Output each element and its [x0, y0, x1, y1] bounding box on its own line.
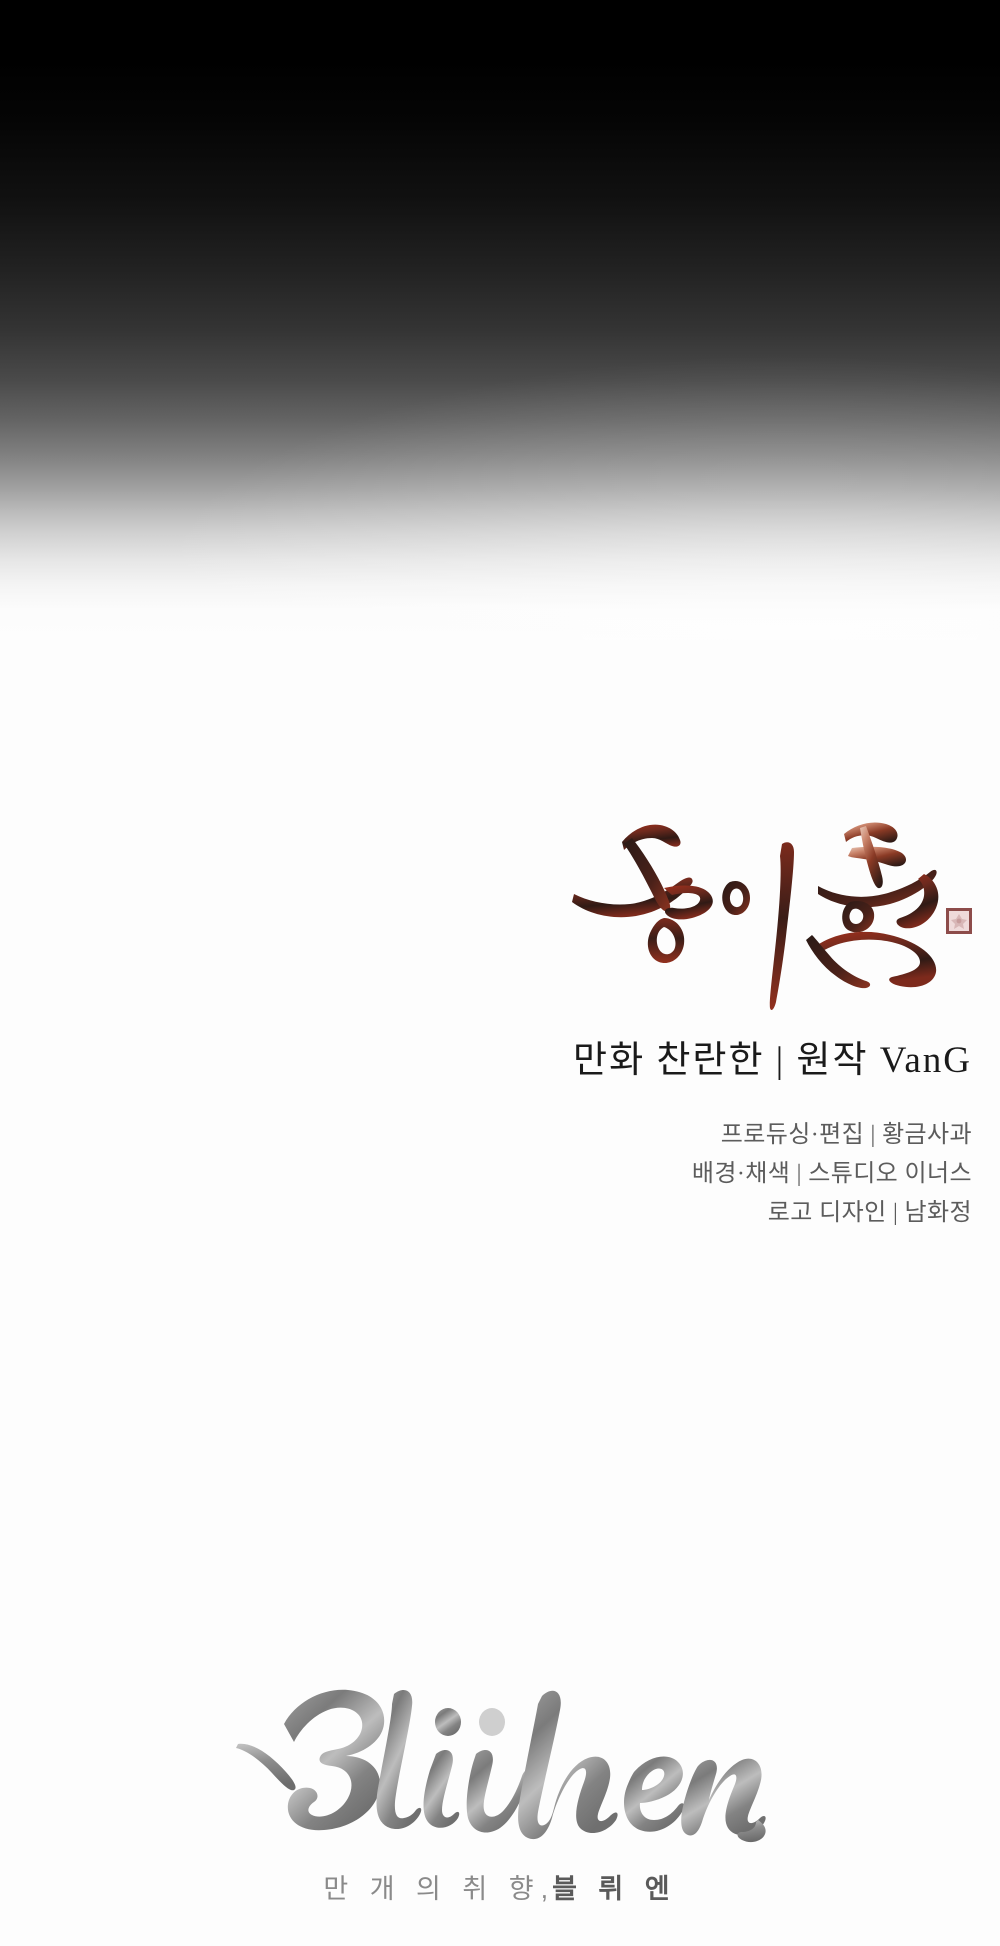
- bluehen-logo: [230, 1672, 770, 1857]
- credit-line-logo-design: 로고 디자인 | 남화정: [0, 1194, 972, 1233]
- credit-line-background: 배경·채색 | 스튜디오 이너스: [0, 1155, 972, 1194]
- webtoon-title-page: 종이꽃: [0, 0, 1000, 1946]
- credit-sub-block: 프로듀싱·편집 | 황금사과 배경·채색 | 스튜디오 이너스 로고 디자인 |…: [0, 1116, 972, 1233]
- page-title: 종이꽃: [0, 790, 1, 791]
- tagline-comma: ,: [541, 1874, 553, 1904]
- credit-line-producing: 프로듀싱·편집 | 황금사과: [0, 1116, 972, 1155]
- credits-block: 만화 찬란한 | 원작 VanG 프로듀싱·편집 | 황금사과 배경·채색 | …: [0, 1036, 972, 1233]
- calligraphy-title-artwork: [560, 790, 980, 1020]
- credit-main-line: 만화 찬란한 | 원작 VanG: [0, 1036, 972, 1086]
- brand-tagline: 만 개 의 취 향,블 뤼 엔: [0, 1867, 1000, 1906]
- top-gradient-backdrop: [0, 0, 1000, 640]
- tagline-brand: 블 뤼 엔: [552, 1874, 677, 1904]
- top-black-edge: [0, 0, 1000, 26]
- artist-seal-icon: [946, 908, 972, 934]
- brand-block: Blühen: [0, 1672, 1000, 1906]
- tagline-prefix: 만 개 의 취 향: [323, 1874, 540, 1904]
- title-block: 종이꽃: [0, 790, 1000, 1030]
